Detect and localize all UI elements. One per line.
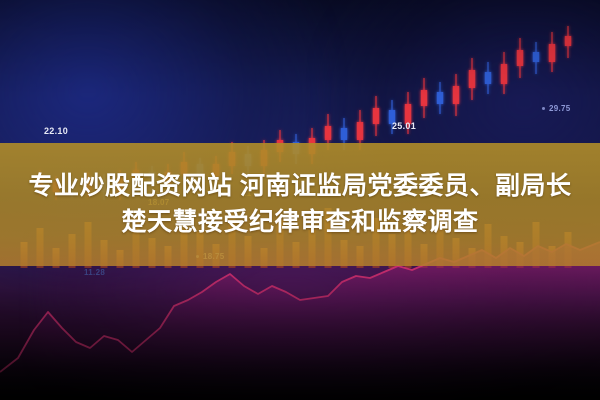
headline-line-2: 楚天慧接受纪律审查和监察调查 [121, 208, 478, 238]
headline-line-1: 专业炒股配资网站 河南证监局党委委员、副局长 [29, 172, 572, 202]
banner-image: 22.1025.0129.7518.0718.7511.2821 专业炒股配资网… [0, 0, 600, 400]
headline-banner: 专业炒股配资网站 河南证监局党委委员、副局长 楚天慧接受纪律审查和监察调查 [0, 143, 600, 266]
